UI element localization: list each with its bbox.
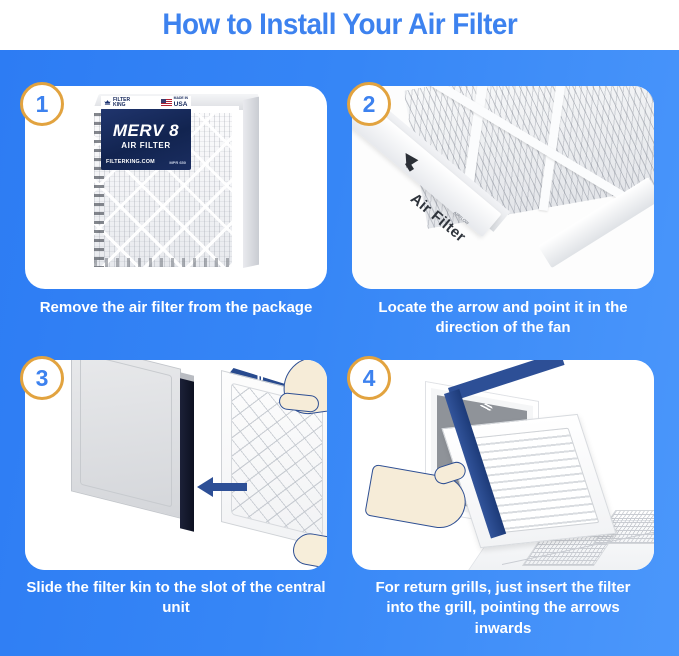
step-badge-1: 1 [20,82,64,126]
filter-king-logo: FILTER KING [104,98,130,108]
slot-dark-edge [180,378,194,531]
crown-icon [104,99,111,106]
step-badge-3: 3 [20,356,64,400]
air-filter-photo: FILTER KING MADE IN USA [87,94,259,279]
step-caption-3: Slide the filter kin to the slot of the … [25,578,327,619]
steps-canvas: FILTER KING MADE IN USA [0,50,679,656]
insert-direction-arrow-icon [197,476,247,498]
step-number-1: 1 [36,91,49,118]
label-footer: FILTERKING.COM MPR 650 [106,159,186,165]
step-number-3: 3 [36,365,49,392]
page-title: How to Install Your Air Filter [162,8,517,42]
step-card-1: FILTER KING MADE IN USA [25,86,327,289]
step-card-3 [25,360,327,570]
label-header-strip: FILTER KING MADE IN USA [101,96,191,109]
made-in-usa-badge: MADE IN USA [161,97,188,108]
central-unit-slot [71,360,181,519]
slot-inner-outline [80,360,172,507]
step-1-image: FILTER KING MADE IN USA [25,86,327,289]
step-3-image [25,360,327,570]
step-badge-4: 4 [347,356,391,400]
step-caption-1: Remove the air filter from the package [25,298,327,318]
step-number-4: 4 [363,365,376,392]
step-caption-4: For return grills, just insert the filte… [362,578,644,639]
merv-rating-text: MERV 8 [101,121,191,141]
header: How to Install Your Air Filter [0,0,679,50]
product-type-text: AIR FILTER [101,141,191,150]
step-2-image: Air Filter AIRFLOW [352,86,654,289]
filter-side-edge [243,97,259,268]
website-text: FILTERKING.COM [106,159,155,165]
step-card-4 [352,360,654,570]
step-4-image [352,360,654,570]
step-badge-2: 2 [347,82,391,126]
step-number-2: 2 [363,91,376,118]
filter-bottom-ribs [94,258,232,267]
country-text: USA [174,101,188,108]
filter-blue-top-edge [448,360,565,401]
step-caption-2: Locate the arrow and point it in the dir… [362,298,644,339]
infographic-page: How to Install Your Air Filter [0,0,679,656]
mpr-rating-text: MPR 650 [169,160,186,165]
brand-text: FILTER KING [113,98,130,108]
brand-line-2: KING [113,103,130,108]
step-card-2: Air Filter AIRFLOW [352,86,654,289]
product-label: FILTER KING MADE IN USA [101,108,191,170]
usa-flag-icon [161,99,172,106]
